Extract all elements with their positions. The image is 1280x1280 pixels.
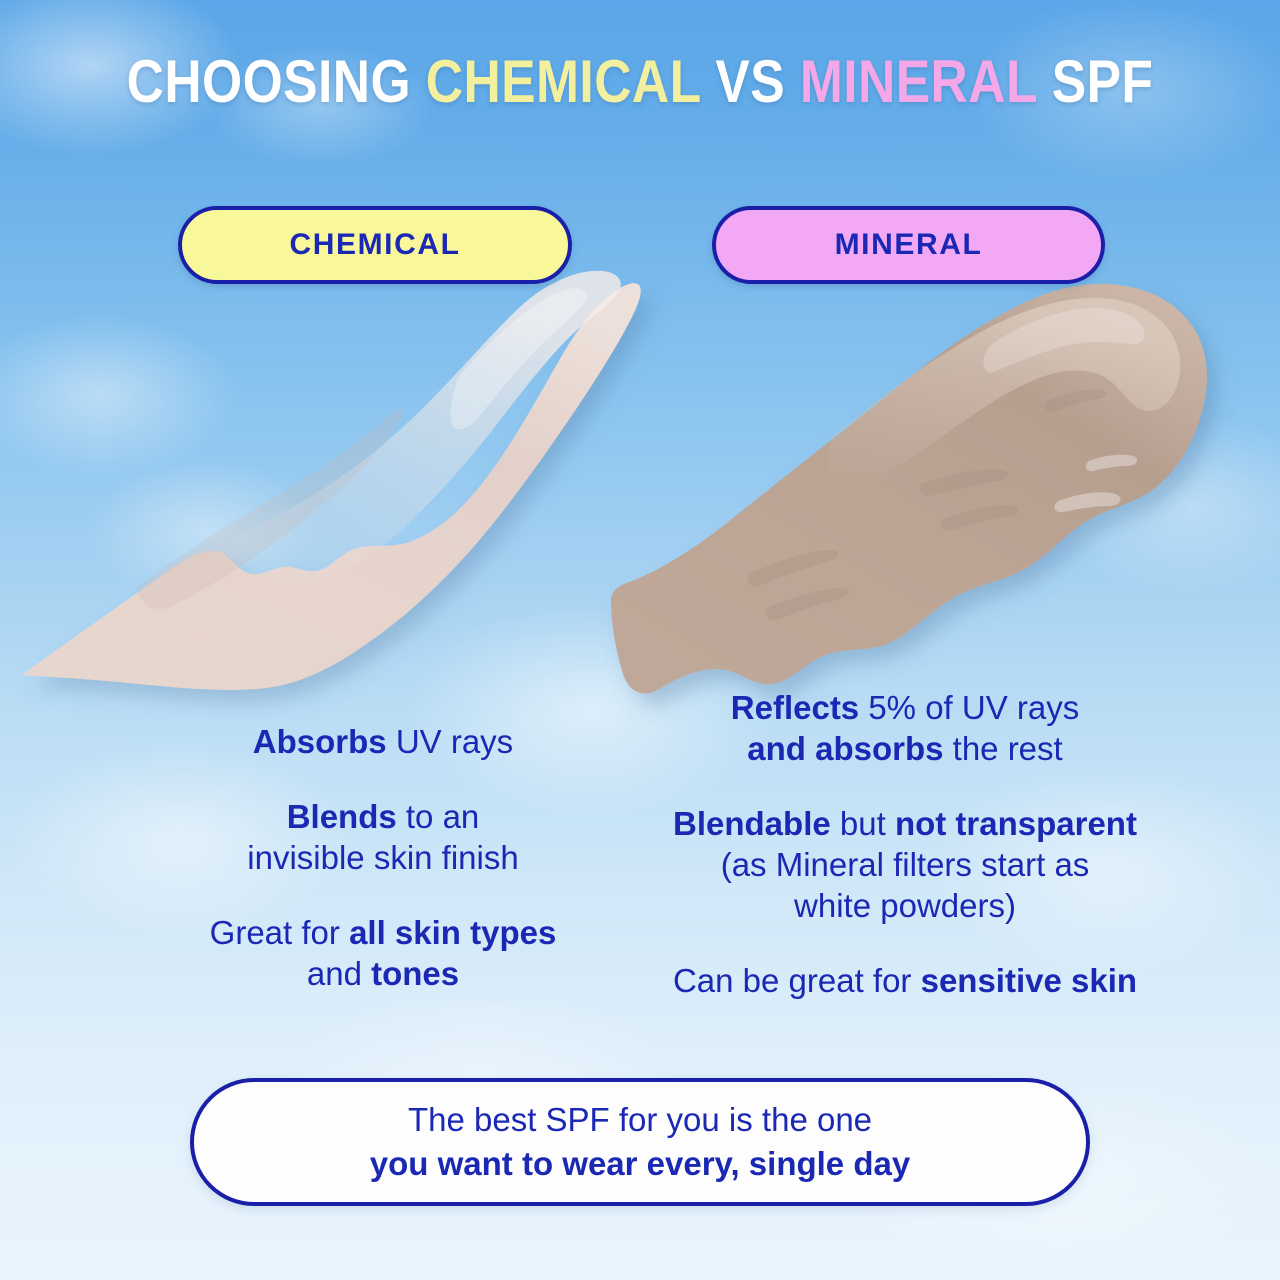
fact-item: Blends to aninvisible skin finish [118,797,648,879]
fact-emphasis: tones [371,955,459,992]
fact-text: 5% of UV rays [859,689,1079,726]
chemical-facts-column: Absorbs UV raysBlends to aninvisible ski… [118,722,648,995]
page-title: CHOOSING CHEMICAL VS MINERAL SPF [90,52,1191,112]
fact-text: the rest [943,730,1062,767]
fact-item: Reflects 5% of UV raysand absorbs the re… [620,688,1190,770]
fact-item: Can be great for sensitive skin [620,961,1190,1002]
fact-emphasis: Absorbs [253,723,387,760]
fact-emphasis: Reflects [731,689,859,726]
fact-emphasis: sensitive skin [921,962,1137,999]
fact-item: Blendable but not transparent(as Mineral… [620,804,1190,927]
fact-emphasis: and absorbs [747,730,943,767]
fact-text: UV rays [387,723,514,760]
fact-text: white powders) [794,887,1016,924]
title-part-mineral: MINERAL [800,48,1037,115]
chemical-spf-cream-swatch [20,255,640,685]
fact-emphasis: Blends [287,798,397,835]
mineral-facts-column: Reflects 5% of UV raysand absorbs the re… [620,688,1190,1001]
cloud-shape [0,280,290,510]
title-part-vs: VS [701,48,800,115]
fact-text: to an [397,798,480,835]
fact-item: Great for all skin typesand tones [118,913,648,995]
fact-text: Great for [210,914,349,951]
title-part-chemical: CHEMICAL [426,48,701,115]
fact-item: Absorbs UV rays [118,722,648,763]
callout-line-2: you want to wear every, single day [370,1142,910,1186]
cloud-shape [40,430,370,630]
fact-text: invisible skin finish [247,839,518,876]
callout-line-1: The best SPF for you is the one [408,1098,872,1142]
label-pill-mineral[interactable]: MINERAL [712,206,1105,284]
fact-emphasis: all skin types [349,914,556,951]
fact-emphasis: not transparent [895,805,1137,842]
infographic-canvas: CHOOSING CHEMICAL VS MINERAL SPF [0,0,1280,1280]
fact-text: but [831,805,895,842]
mineral-spf-cream-swatch [595,250,1215,690]
title-part-choosing: CHOOSING [127,48,426,115]
title-part-spf: SPF [1037,48,1153,115]
bottom-callout-box: The best SPF for you is the one you want… [190,1078,1090,1206]
fact-text: Can be great for [673,962,921,999]
label-pill-chemical[interactable]: CHEMICAL [178,206,572,284]
cloud-shape [980,380,1280,630]
fact-text: and [307,955,371,992]
fact-text: (as Mineral filters start as [721,846,1090,883]
fact-emphasis: Blendable [673,805,831,842]
